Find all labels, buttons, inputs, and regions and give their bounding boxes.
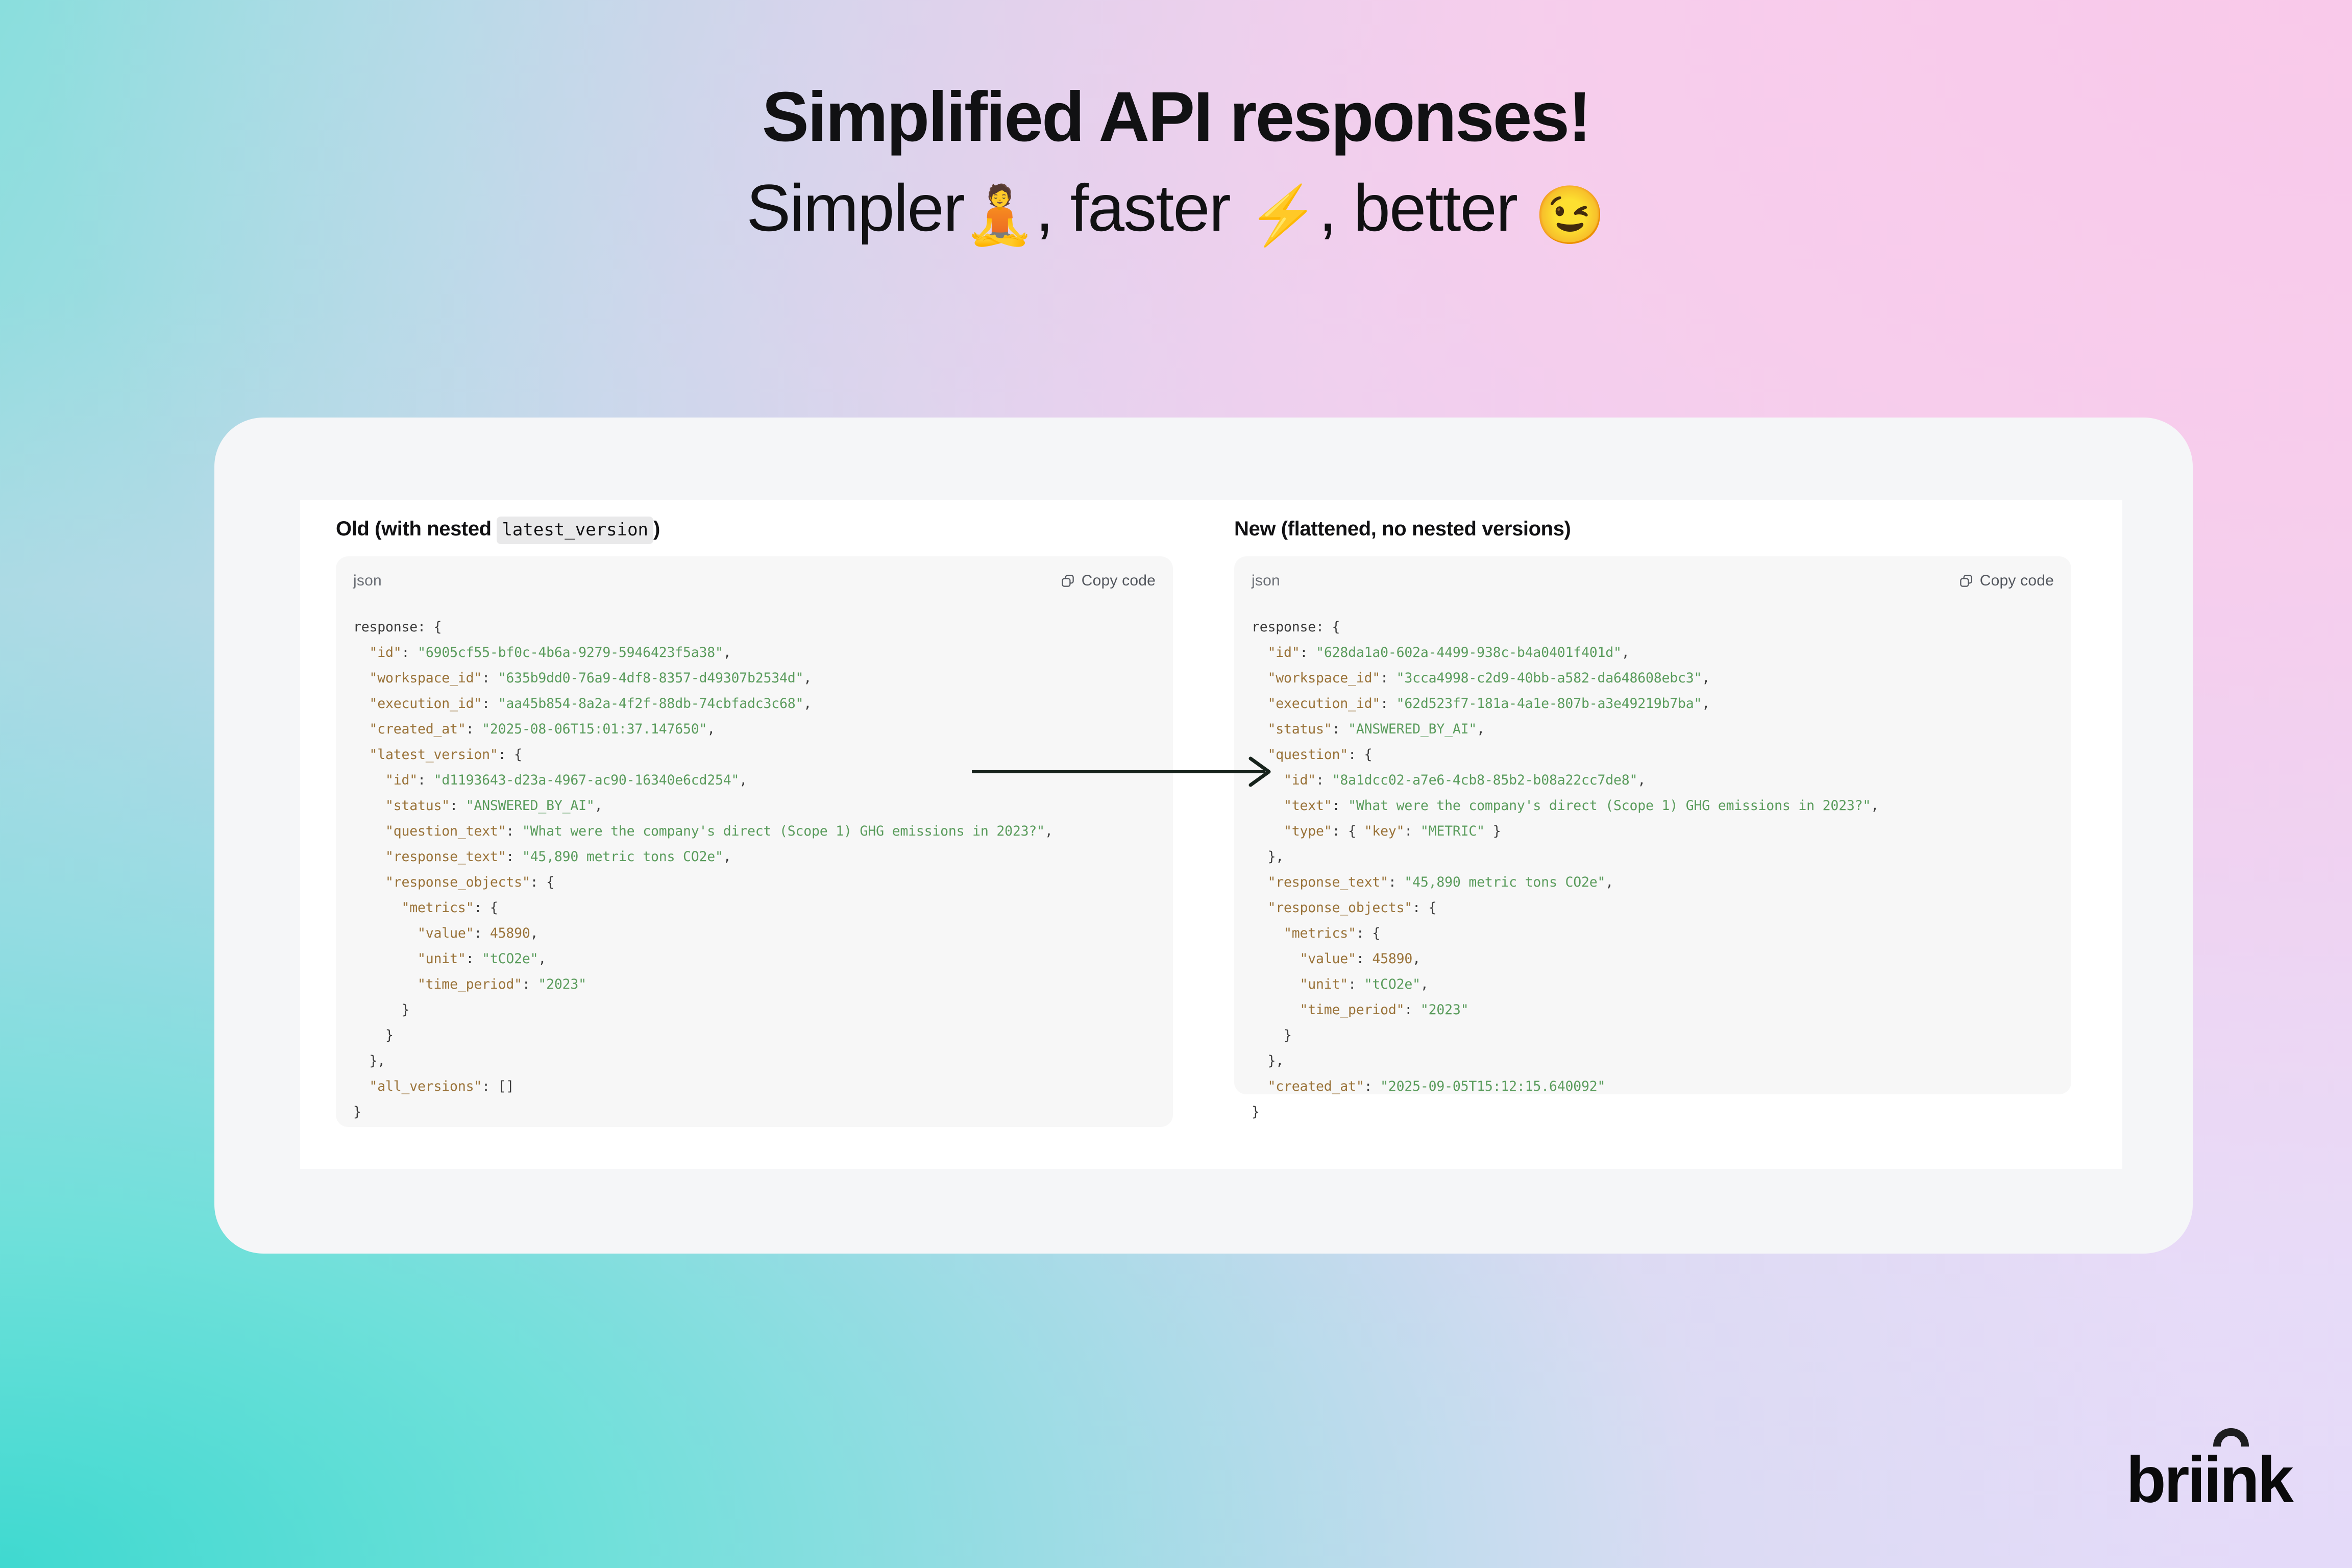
- new-copy-code-label: Copy code: [1980, 572, 2054, 590]
- old-copy-code-label: Copy code: [1082, 572, 1156, 590]
- old-heading-prefix: Old (with nested: [336, 518, 497, 540]
- lightning-bolt-emoji: ⚡: [1247, 183, 1318, 247]
- old-heading-suffix: ): [653, 518, 660, 540]
- old-json-code: response: { "id": "6905cf55-bf0c-4b6a-92…: [353, 615, 1156, 1125]
- subtitle-text-2: , faster: [1035, 170, 1247, 245]
- logo-text: briink: [2126, 1443, 2292, 1516]
- old-code-toolbar: json Copy code: [353, 570, 1156, 592]
- new-response-column: New (flattened, no nested versions) json…: [1234, 519, 2071, 1094]
- briink-logo: briink: [2126, 1448, 2292, 1513]
- latest-version-code-chip: latest_version: [497, 517, 653, 544]
- old-code-language-label: json: [353, 572, 382, 590]
- new-code-language-label: json: [1252, 572, 1280, 590]
- winking-face-emoji: 😉: [1534, 183, 1605, 247]
- logo-wordmark: briink: [2126, 1448, 2292, 1513]
- old-code-block: json Copy code response: { "id": "6905cf…: [336, 556, 1173, 1127]
- subtitle-text-3: , better: [1318, 170, 1534, 245]
- new-heading-prefix: New (flattened, no nested versions): [1234, 518, 1571, 540]
- old-response-column: Old (with nested latest_version) json Co…: [336, 519, 1173, 1127]
- subtitle-text-1: Simpler: [746, 170, 964, 245]
- new-code-toolbar: json Copy code: [1252, 570, 2054, 592]
- new-column-heading: New (flattened, no nested versions): [1234, 519, 2071, 539]
- headline-block: Simplified API responses! Simpler🧘, fast…: [0, 78, 2352, 248]
- meditating-person-emoji: 🧘: [964, 183, 1035, 247]
- old-column-heading: Old (with nested latest_version): [336, 519, 1173, 539]
- new-json-code: response: { "id": "628da1a0-602a-4499-93…: [1252, 615, 2054, 1125]
- copy-icon: [1958, 573, 1974, 589]
- new-code-block: json Copy code response: { "id": "628da1…: [1234, 556, 2071, 1094]
- copy-icon: [1060, 573, 1075, 589]
- comparison-panel: Old (with nested latest_version) json Co…: [300, 500, 2122, 1169]
- old-copy-code-button[interactable]: Copy code: [1060, 572, 1156, 590]
- page-subtitle: Simpler🧘, faster ⚡, better 😉: [0, 170, 2352, 248]
- page-title: Simplified API responses!: [0, 78, 2352, 157]
- new-copy-code-button[interactable]: Copy code: [1958, 572, 2054, 590]
